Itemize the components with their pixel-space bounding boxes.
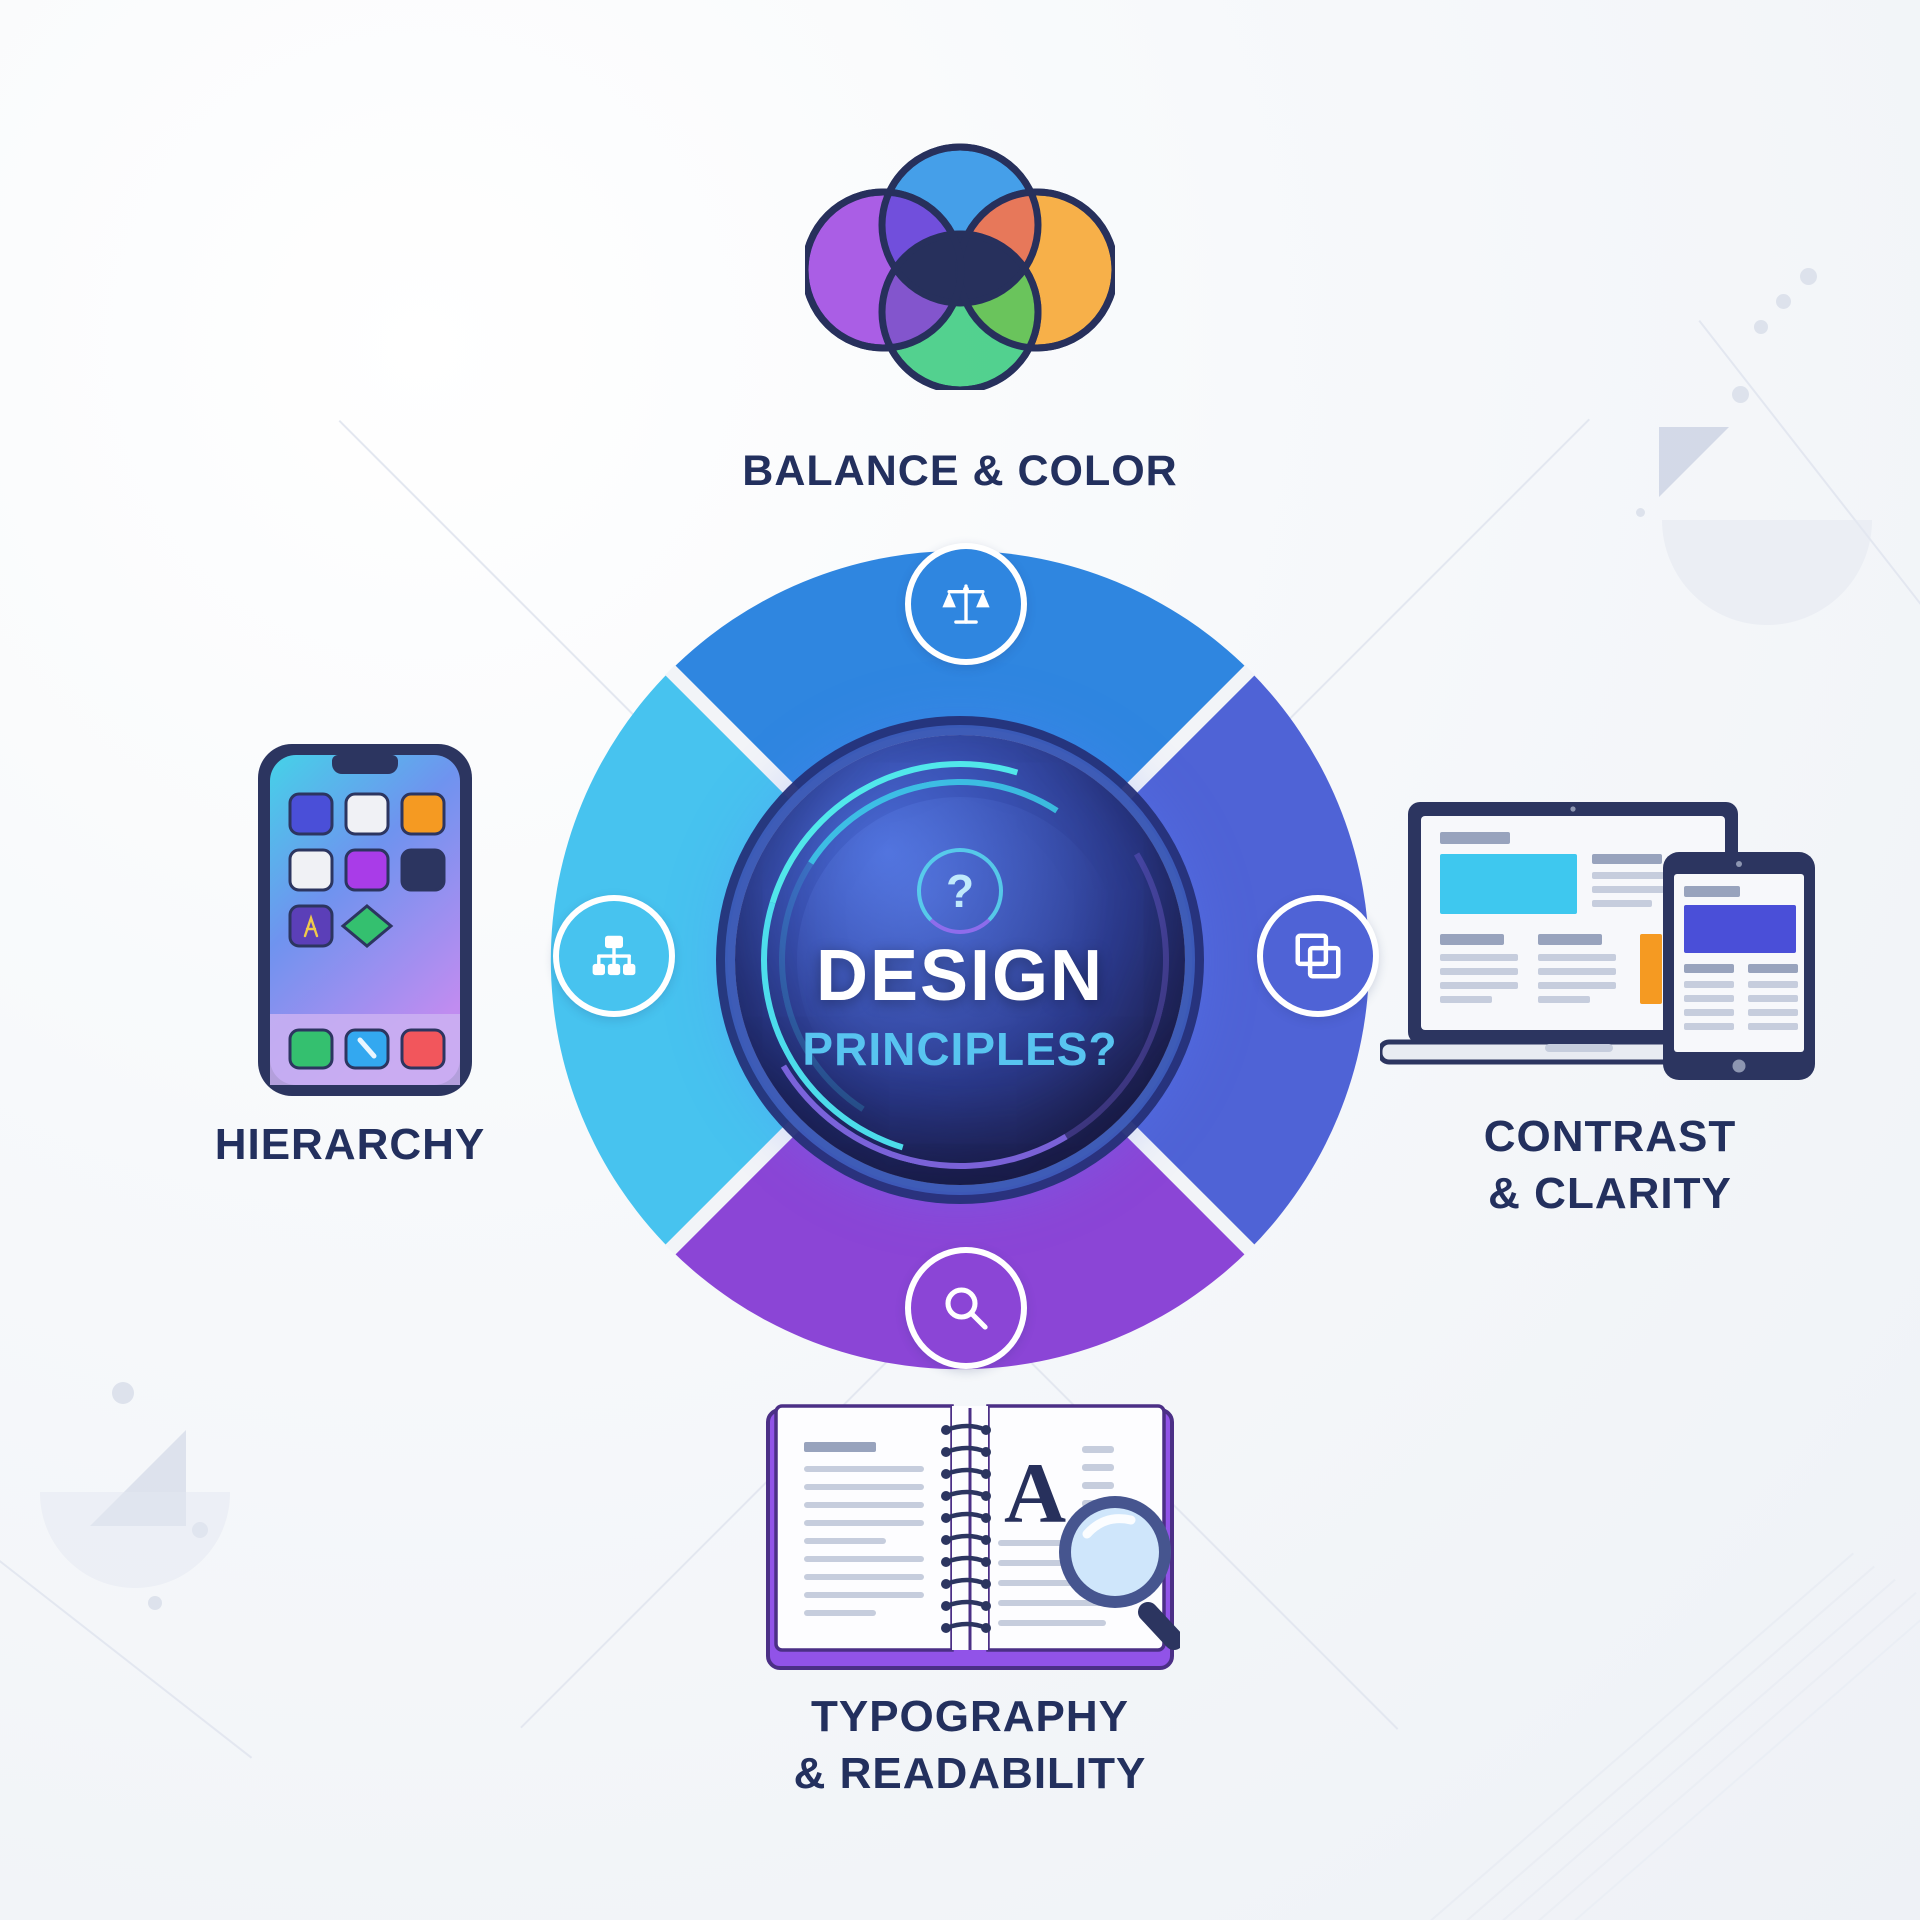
hub-subtitle: PRINCIPLES?: [802, 1026, 1117, 1072]
color-wheel-venn-icon: [805, 140, 1115, 390]
decor-dot: [1800, 268, 1817, 285]
decor-dot: [1776, 294, 1791, 309]
decor-triangle: [1659, 427, 1729, 497]
decor-hatch-line: [1430, 1553, 1854, 1920]
decor-diagonal-line: [0, 1560, 252, 1759]
decor-dot: [1636, 508, 1645, 517]
laptop-tablet-mockup: [1380, 790, 1820, 1100]
label-left: HIERARCHY: [100, 1120, 600, 1169]
badge-magnifier[interactable]: [905, 1247, 1027, 1369]
balance-scale-icon: [939, 577, 993, 631]
phone-mockup: [250, 740, 480, 1100]
badge-layers[interactable]: [1257, 895, 1379, 1017]
open-book-magnifier: A: [760, 1400, 1180, 1680]
decor-dot: [192, 1522, 208, 1538]
label-right-line1: CONTRAST: [1370, 1112, 1850, 1161]
decor-dot: [148, 1596, 162, 1610]
decor-hatch-line: [1574, 1605, 1920, 1920]
decor-diagonal-line: [1698, 320, 1920, 652]
label-bottom-line2: & READABILITY: [620, 1749, 1320, 1798]
infographic-canvas: BALANCE & COLOR ?: [0, 0, 1920, 1920]
layers-icon: [1291, 929, 1345, 983]
hub-title: DESIGN: [816, 940, 1104, 1012]
decor-swoosh: [1662, 520, 1872, 625]
badge-balance-scale[interactable]: [905, 543, 1027, 665]
decor-dot: [1754, 320, 1768, 334]
magnifier-icon: [939, 1281, 993, 1335]
decor-hatch-line: [1502, 1579, 1896, 1920]
decor-hatch-line: [1466, 1566, 1875, 1920]
question-mark-glyph: ?: [946, 868, 974, 914]
question-mark-icon: ?: [917, 848, 1003, 934]
decor-hatch-line: [1538, 1592, 1917, 1920]
decor-dot: [1732, 386, 1749, 403]
org-chart-icon: [587, 929, 641, 983]
design-principles-hub: ? DESIGN PRINCIPLES?: [735, 735, 1185, 1185]
decor-triangle: [90, 1430, 186, 1526]
label-right-line2: & CLARITY: [1370, 1169, 1850, 1218]
label-bottom-line1: TYPOGRAPHY: [620, 1692, 1320, 1741]
typography-glyph: A: [1004, 1445, 1066, 1541]
decor-dot: [112, 1382, 134, 1404]
badge-org-chart[interactable]: [553, 895, 675, 1017]
label-bottom: TYPOGRAPHY & READABILITY: [620, 1692, 1320, 1799]
label-right: CONTRAST & CLARITY: [1370, 1112, 1850, 1219]
decor-swoosh: [40, 1492, 230, 1588]
